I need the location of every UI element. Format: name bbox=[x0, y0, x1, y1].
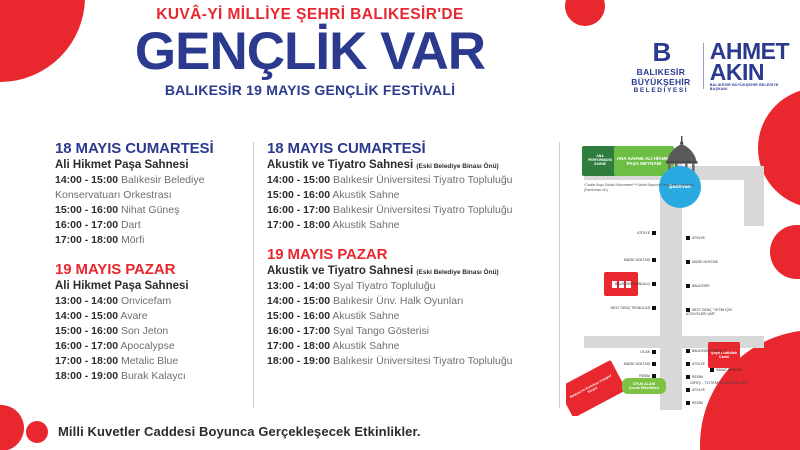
map-pin-square bbox=[686, 284, 690, 288]
event-time: 14:00 - 15:00 bbox=[55, 174, 118, 186]
event-time: 15:00 - 16:00 bbox=[55, 204, 118, 216]
event-row: 15:00 - 16:00 Akustik Sahne bbox=[267, 309, 557, 324]
event-row: 17:00 - 18:00 Akustik Sahne bbox=[267, 339, 557, 354]
event-row: 16:00 - 17:00 Apocalypse bbox=[55, 339, 250, 354]
map-pin-square bbox=[686, 362, 690, 366]
map-pin-label: MÜZİK NOKTASI bbox=[624, 258, 650, 262]
map-pin-label: ATÖLYE bbox=[692, 388, 705, 392]
event-row: 16:00 - 17:00 Balıkesir Üniversitesi Tiy… bbox=[267, 203, 557, 218]
map-pin-left: MÜZİK NOKTASI bbox=[578, 258, 656, 263]
map-pin-right: BALIKESİR bbox=[686, 284, 710, 289]
map-pin-right: RESİM bbox=[686, 375, 703, 380]
page-title: GENÇLİK VAR bbox=[0, 25, 620, 79]
event-row: 14:00 - 15:00 Avare bbox=[55, 309, 250, 324]
event-row: 14:00 - 15:00 Balıkesir Üniversitesi Tiy… bbox=[267, 173, 557, 188]
schedule-venue: Akustik ve Tiyatro Sahnesi (Eski Belediy… bbox=[267, 264, 557, 278]
schedule-venue-note: (Eski Belediye Binası Önü) bbox=[416, 269, 498, 276]
map-pin-left: RESİM bbox=[606, 374, 656, 379]
event-time: 17:00 - 18:00 bbox=[55, 234, 118, 246]
schedule-venue-note: (Eski Belediye Binası Önü) bbox=[416, 163, 498, 170]
schedule-column-middle: 18 MAYIS CUMARTESİ Akustik ve Tiyatro Sa… bbox=[267, 140, 557, 377]
event-name: Akustik Sahne bbox=[332, 189, 399, 201]
poster-header: KUVÂ-Yİ MİLLİYE ŞEHRİ BALIKESİR'DE GENÇL… bbox=[0, 6, 620, 98]
map-pin-square bbox=[652, 362, 656, 366]
map-pin-square bbox=[710, 368, 714, 372]
event-name: Akustik Sahne bbox=[332, 310, 399, 322]
map-pin-label: ATÖLYE bbox=[692, 236, 705, 240]
event-time: 14:00 - 15:00 bbox=[55, 310, 118, 322]
event-name: Apocalypse bbox=[120, 340, 174, 352]
event-row: 18:00 - 19:00 Burak Kalaycı bbox=[55, 369, 250, 384]
map-pin-right: ATÖLYE bbox=[686, 362, 705, 367]
event-time: 17:00 - 18:00 bbox=[267, 340, 330, 352]
event-name: Avare bbox=[120, 310, 147, 322]
event-time: 14:00 - 15:00 bbox=[267, 295, 330, 307]
event-name: Onvicefam bbox=[121, 295, 171, 307]
schedule-venue-name: Akustik ve Tiyatro Sahnesi bbox=[267, 265, 413, 277]
map-photo-exhibition-marker: Balıkesir'in Kurtuluşu Fotoğraf Sergisi bbox=[566, 360, 626, 416]
map-pin-square bbox=[652, 350, 656, 354]
map-pin-label: NEXT GENÇ TEKNOLOJİ bbox=[611, 306, 650, 310]
event-time: 16:00 - 17:00 bbox=[267, 325, 330, 337]
festival-poster: KUVÂ-Yİ MİLLİYE ŞEHRİ BALIKESİR'DE GENÇL… bbox=[0, 0, 800, 450]
event-row: 15:00 - 16:00 Nihat Güneş bbox=[55, 203, 250, 218]
event-row: 14:00 - 15:00 Balıkesir Belediye Konserv… bbox=[55, 173, 250, 203]
event-name: Syal Tiyatro Topluluğu bbox=[333, 280, 436, 292]
event-row: 14:00 - 15:00 Balıkesir Ünv. Halk Oyunla… bbox=[267, 294, 557, 309]
map-pin-square bbox=[686, 375, 690, 379]
mayor-logo: AHMET AKIN BALIKESİR BÜYÜKŞEHİR BELEDİYE… bbox=[710, 41, 795, 91]
event-time: 16:00 - 17:00 bbox=[55, 219, 118, 231]
event-time: 15:00 - 16:00 bbox=[267, 189, 330, 201]
map-pin-left: ATÖLYE bbox=[588, 231, 656, 236]
event-name: Metalic Blue bbox=[121, 355, 178, 367]
map-pin-label: SANAT SERGİSİ bbox=[716, 368, 742, 372]
map-pin-label: OCAK bbox=[640, 350, 650, 354]
event-name: Mörfi bbox=[121, 234, 144, 246]
map-pin-square bbox=[686, 349, 690, 353]
municipality-logo-mark: B bbox=[625, 39, 697, 65]
municipality-logo: B BALIKESİR BÜYÜKŞEHİR BELEDİYESİ bbox=[625, 39, 697, 94]
map-pin-left: OCAK bbox=[606, 350, 656, 355]
event-row: 15:00 - 16:00 Son Jeton bbox=[55, 324, 250, 339]
decorative-circle-bottom-left bbox=[0, 405, 24, 450]
map-pin-square bbox=[686, 388, 690, 392]
map-pin-label: MÜZİK NOKTASI bbox=[692, 260, 718, 264]
event-row: 16:00 - 17:00 Dart bbox=[55, 218, 250, 233]
event-time: 15:00 - 16:00 bbox=[267, 310, 330, 322]
column-divider-1 bbox=[253, 142, 254, 408]
schedule-day-heading: 19 MAYIS PAZAR bbox=[55, 261, 250, 278]
schedule-venue-name: Ali Hikmet Paşa Sahnesi bbox=[55, 159, 189, 171]
map-pin-square bbox=[652, 306, 656, 310]
event-row: 13:00 - 14:00 Syal Tiyatro Topluluğu bbox=[267, 279, 557, 294]
event-time: 17:00 - 18:00 bbox=[267, 219, 330, 231]
map-entrance-label: GİRİŞ - TOTEM SÜSLEMELERİ bbox=[690, 380, 747, 386]
event-name: Akustik Sahne bbox=[332, 340, 399, 352]
map-pin-right: ATÖLYE bbox=[686, 236, 705, 241]
event-time: 14:00 - 15:00 bbox=[267, 174, 330, 186]
map-mosque-marker: Şeyh Lütfullah Camii bbox=[708, 342, 740, 368]
event-name: Balıkesir Üniversitesi Tiyatro Topluluğu bbox=[333, 174, 513, 186]
event-row: 17:00 - 18:00 Akustik Sahne bbox=[267, 218, 557, 233]
map-pin-left: NEXT GENÇ TEKNOLOJİ bbox=[590, 306, 656, 311]
map-pin-right: ATÖLYE bbox=[686, 388, 705, 393]
map-pin-label: ATÖLYE bbox=[637, 231, 650, 235]
map-pin-square bbox=[652, 282, 656, 286]
municipality-logo-line3: BELEDİYESİ bbox=[625, 87, 697, 94]
map-pin-right: NEXT GENÇ "YETİM İÇİN ATÖLYELERİ VAR" bbox=[686, 308, 752, 316]
map-pin-right: MÜZİK NOKTASI bbox=[686, 260, 718, 265]
header-subtitle: BALIKESİR 19 MAYIS GENÇLİK FESTİVALİ bbox=[0, 82, 620, 98]
schedule-day-heading: 18 MAYIS CUMARTESİ bbox=[267, 140, 557, 157]
map-pin-left: BALIKESİR GÖNÜLLÜ bbox=[572, 282, 656, 287]
map-pin-right: RESİM bbox=[686, 401, 703, 406]
event-name: Nihat Güneş bbox=[121, 204, 179, 216]
schedule-block: 19 MAYIS PAZAR Ali Hikmet Paşa Sahnesi 1… bbox=[55, 261, 250, 384]
schedule-day-heading: 19 MAYIS PAZAR bbox=[267, 246, 557, 263]
map-pin-label: BALIKESİR GÖNÜLLÜ bbox=[615, 282, 650, 286]
event-time: 17:00 - 18:00 bbox=[55, 355, 118, 367]
map-pin-square bbox=[652, 258, 656, 262]
schedule-venue: Ali Hikmet Paşa Sahnesi bbox=[55, 158, 250, 172]
map-play-area-marker: OYUN ALANI Çocuk Etkinlikleri bbox=[622, 378, 666, 394]
logo-divider bbox=[703, 43, 704, 89]
map-pin-square bbox=[652, 374, 656, 378]
footer-bullet-dot bbox=[26, 421, 48, 443]
event-name: Balıkesir Ünv. Halk Oyunları bbox=[333, 295, 464, 307]
map-pin-right: SANAT SERGİSİ bbox=[710, 368, 752, 373]
event-time: 15:00 - 16:00 bbox=[55, 325, 118, 337]
map-pin-right: BALIKESİR GÖNÜLLÜ bbox=[686, 349, 727, 354]
map-pin-label: BALIKESİR GÖNÜLLÜ bbox=[692, 349, 727, 353]
map-pin-label: RESİM bbox=[692, 401, 703, 405]
schedule-day-heading: 18 MAYIS CUMARTESİ bbox=[55, 140, 250, 157]
event-time: 18:00 - 19:00 bbox=[267, 355, 330, 367]
map-pin-label: NEXT GENÇ "YETİM İÇİN ATÖLYELERİ VAR" bbox=[686, 308, 732, 316]
footer-note: Milli Kuvetler Caddesi Boyunca Gerçekleş… bbox=[58, 424, 421, 439]
event-row: 17:00 - 18:00 Mörfi bbox=[55, 233, 250, 248]
map-play-area-sublabel: Çocuk Etkinlikleri bbox=[629, 386, 659, 390]
schedule-block: 18 MAYIS CUMARTESİ Ali Hikmet Paşa Sahne… bbox=[55, 140, 250, 248]
event-row: 17:00 - 18:00 Metalic Blue bbox=[55, 354, 250, 369]
event-row: 15:00 - 16:00 Akustik Sahne bbox=[267, 188, 557, 203]
map-pin-square bbox=[652, 231, 656, 235]
event-name: Burak Kalaycı bbox=[121, 370, 186, 382]
header-kicker: KUVÂ-Yİ MİLLİYE ŞEHRİ BALIKESİR'DE bbox=[0, 6, 620, 23]
map-pin-label: MÜZİK NOKTASI bbox=[624, 362, 650, 366]
schedule-block: 19 MAYIS PAZAR Akustik ve Tiyatro Sahnes… bbox=[267, 246, 557, 369]
map-pin-square bbox=[686, 236, 690, 240]
municipality-logo-line1: BALIKESİR bbox=[625, 67, 697, 77]
map-pin-square bbox=[686, 401, 690, 405]
mayor-logo-line2: AKIN bbox=[710, 62, 795, 83]
event-time: 16:00 - 17:00 bbox=[267, 204, 330, 216]
map-pin-label: RESİM bbox=[692, 375, 703, 379]
schedule-block: 18 MAYIS CUMARTESİ Akustik ve Tiyatro Sa… bbox=[267, 140, 557, 233]
mayor-logo-line3: BALIKESİR BÜYÜKŞEHİR BELEDİYE BAŞKANI bbox=[710, 84, 795, 91]
event-name: Son Jeton bbox=[121, 325, 168, 337]
schedule-column-left: 18 MAYIS CUMARTESİ Ali Hikmet Paşa Sahne… bbox=[55, 140, 250, 392]
event-time: 18:00 - 19:00 bbox=[55, 370, 118, 382]
map-decoration-note: *Cadde Boyu Sokak Süslemeleri **Cadde Bo… bbox=[584, 183, 694, 193]
map-pin-label: BALIKESİR bbox=[692, 284, 710, 288]
event-row: 18:00 - 19:00 Balıkesir Üniversitesi Tiy… bbox=[267, 354, 557, 369]
map-road-corner bbox=[744, 166, 764, 226]
event-name: Balıkesir Üniversitesi Tiyatro Topluluğu bbox=[333, 355, 513, 367]
event-name: Akustik Sahne bbox=[332, 219, 399, 231]
map-pin-label: ATÖLYE bbox=[692, 362, 705, 366]
event-name: Dart bbox=[121, 219, 141, 231]
event-map: ANA PERFORMANS SAHNE ANA SAHNE ALİ HİKME… bbox=[566, 136, 794, 416]
schedule-venue-name: Ali Hikmet Paşa Sahnesi bbox=[55, 280, 189, 292]
event-name: Balıkesir Üniversitesi Tiyatro Topluluğu bbox=[333, 204, 513, 216]
logo-group: B BALIKESİR BÜYÜKŞEHİR BELEDİYESİ AHMET … bbox=[625, 30, 795, 102]
event-name: Syal Tango Gösterisi bbox=[333, 325, 429, 337]
schedule-venue: Ali Hikmet Paşa Sahnesi bbox=[55, 279, 250, 293]
event-row: 16:00 - 17:00 Syal Tango Gösterisi bbox=[267, 324, 557, 339]
map-pin-left: MÜZİK NOKTASI bbox=[578, 362, 656, 367]
map-primary-stage-box: ANA PERFORMANS SAHNE bbox=[582, 146, 618, 176]
column-divider-2 bbox=[559, 142, 560, 408]
event-time: 13:00 - 14:00 bbox=[55, 295, 118, 307]
map-pin-label: RESİM bbox=[639, 374, 650, 378]
map-pin-square bbox=[686, 260, 690, 264]
municipality-logo-line2: BÜYÜKŞEHİR bbox=[625, 77, 697, 87]
event-time: 16:00 - 17:00 bbox=[55, 340, 118, 352]
event-row: 13:00 - 14:00 Onvicefam bbox=[55, 294, 250, 309]
event-time: 13:00 - 14:00 bbox=[267, 280, 330, 292]
schedule-venue: Akustik ve Tiyatro Sahnesi (Eski Belediy… bbox=[267, 158, 557, 172]
schedule-venue-name: Akustik ve Tiyatro Sahnesi bbox=[267, 159, 413, 171]
